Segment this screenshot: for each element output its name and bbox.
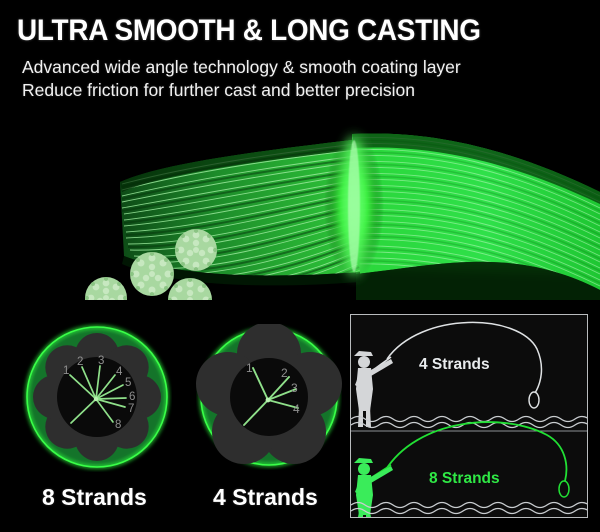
spoke-number: 5 (125, 377, 131, 389)
cross-section-8-label: 8 Strands (42, 484, 147, 511)
spoke-number: 2 (77, 356, 83, 368)
spoke-number: 1 (63, 365, 69, 377)
spoke-number: 7 (128, 403, 134, 415)
cross-section-4-label: 4 Strands (213, 484, 318, 511)
subtitle-line-2: Reduce friction for further cast and bet… (22, 80, 415, 100)
strand-end (175, 229, 217, 271)
spoke-number: 1 (246, 361, 253, 375)
cast-label-8-strand: 8 Strands (429, 470, 500, 487)
strand-end (130, 252, 174, 296)
spoke-number: 8 (115, 419, 121, 431)
spoke-number: 4 (116, 366, 123, 378)
spoke-number: 3 (291, 381, 298, 395)
spoke-number: 3 (98, 355, 104, 367)
subtitle-line-1: Advanced wide angle technology & smooth … (22, 57, 461, 77)
braid-glow-ring (324, 132, 384, 280)
header: ULTRA SMOOTH & LONG CASTING Advanced wid… (0, 0, 600, 112)
spoke-number: 2 (281, 366, 288, 380)
cast-label-4-strand: 4 Strands (419, 356, 490, 373)
cross-section-4-strand: 1 2 3 4 (196, 324, 342, 470)
spoke-number: 6 (129, 391, 135, 403)
cross-section-8-strand: 1 2 3 4 5 6 7 8 (22, 322, 172, 472)
braid-illustration (0, 104, 600, 300)
strand-end (85, 277, 127, 300)
spoke-number: 4 (293, 402, 300, 416)
infographic-canvas: ULTRA SMOOTH & LONG CASTING Advanced wid… (0, 0, 600, 532)
braid-right-band (352, 133, 600, 300)
page-title: ULTRA SMOOTH & LONG CASTING (17, 16, 481, 46)
cast-comparison-panel: 4 Strands (350, 314, 588, 518)
